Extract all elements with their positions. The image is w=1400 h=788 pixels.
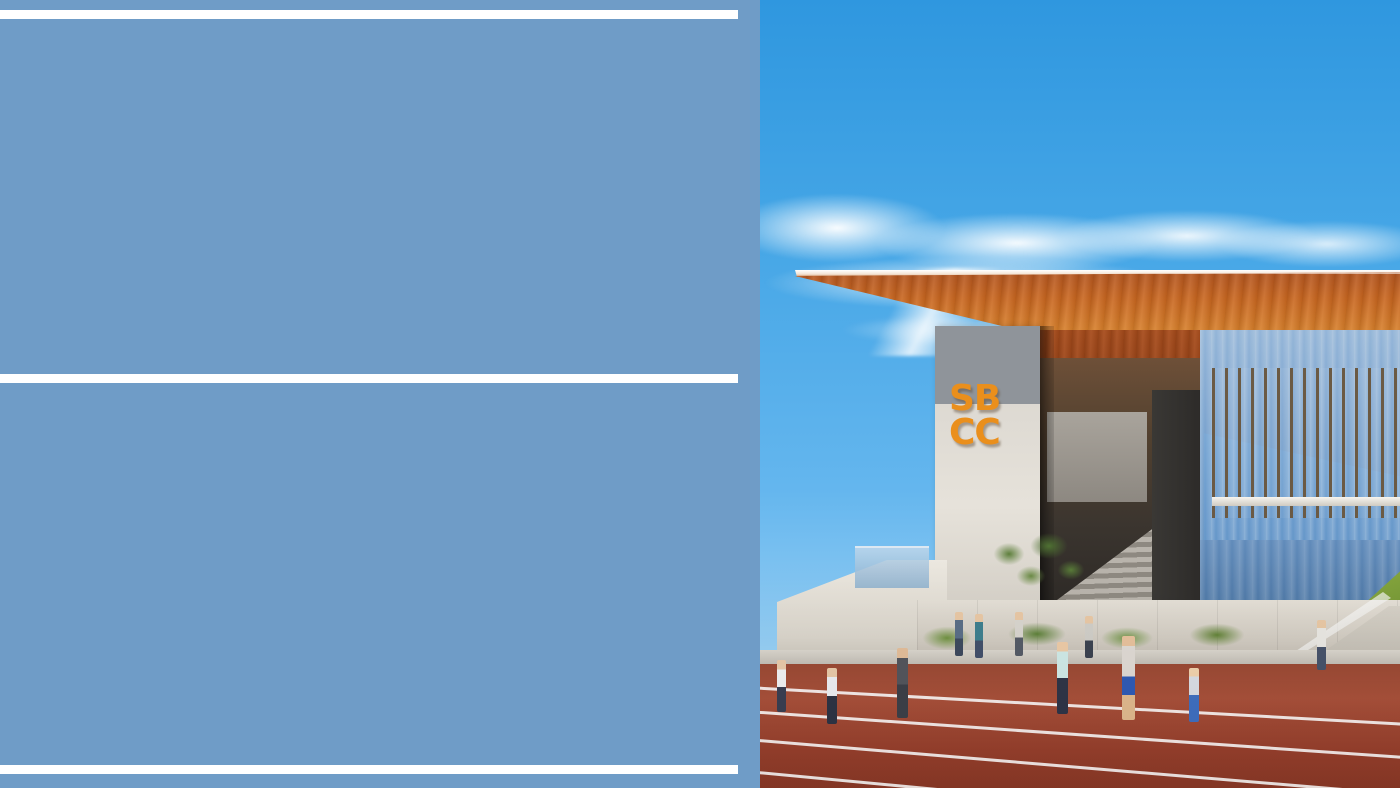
sbcc-logo: SB CC: [949, 382, 1029, 450]
sbcc-logo-line-1: SB: [949, 382, 1029, 416]
person-figure: [955, 612, 963, 656]
divider-middle: [0, 374, 738, 383]
person-figure: [1317, 620, 1326, 670]
person-figure: [1369, 614, 1380, 670]
person-figure: [777, 660, 786, 712]
dark-column: [1152, 390, 1204, 630]
viewing-deck: [855, 546, 929, 588]
sunshade-louvers: [1212, 368, 1400, 518]
person-figure: [1057, 642, 1068, 714]
building-rendering: SB CC: [757, 0, 1400, 788]
divider-top: [0, 10, 738, 19]
divider-bottom: [0, 765, 738, 774]
sbcc-logo-line-2: CC: [949, 416, 1029, 450]
running-track: [757, 664, 1400, 788]
person-figure: [1015, 612, 1023, 656]
track-lane-line: [757, 686, 1400, 727]
poster-canvas: SB CC PHYSICAL: [0, 0, 1400, 788]
person-figure: [827, 668, 837, 724]
person-figure: [897, 648, 908, 718]
balcony-rail: [1212, 497, 1400, 506]
interior-wall: [1047, 412, 1147, 502]
left-info-panel: [0, 0, 760, 788]
person-figure: [1085, 616, 1093, 658]
person-figure: [975, 614, 983, 658]
person-figure: [1122, 636, 1135, 720]
person-figure: [1189, 668, 1199, 722]
